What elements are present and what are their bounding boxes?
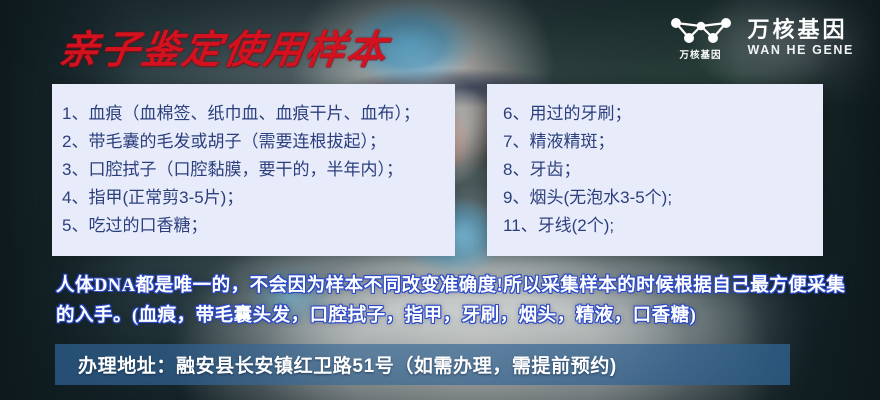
list-item: 6、用过的牙刷； [503, 100, 823, 128]
sample-list-right: 6、用过的牙刷； 7、精液精斑； 8、牙齿； 9、烟头(无泡水3-5个); 11… [503, 100, 823, 240]
sample-panel-right: 6、用过的牙刷； 7、精液精斑； 8、牙齿； 9、烟头(无泡水3-5个); 11… [487, 84, 823, 256]
logo-name-en: WAN HE GENE [748, 44, 855, 57]
address-bar: 办理地址：融安县长安镇红卫路51号（如需办理，需提前预约) [55, 344, 790, 385]
note-text: 人体DNA都是唯一的，不会因为样本不同改变准确度!所以采集样本的时候根据自己最方… [56, 271, 856, 331]
list-item: 5、吃过的口香糖； [62, 212, 455, 240]
logo-name-cn: 万核基因 [748, 19, 855, 41]
list-item: 3、口腔拭子（口腔黏膜，要干的，半年内）； [62, 156, 455, 184]
list-item: 7、精液精斑； [503, 128, 823, 156]
list-item: 8、牙齿； [503, 156, 823, 184]
list-item: 9、烟头(无泡水3-5个); [503, 184, 823, 212]
list-item: 1、血痕（血棉签、纸巾血、血痕干片、血布）； [62, 100, 455, 128]
logo-wordmark: 万核基因 WAN HE GENE [748, 19, 855, 57]
logo-mark-caption: 万核基因 [679, 51, 721, 61]
sample-list-left: 1、血痕（血棉签、纸巾血、血痕干片、血布）； 2、带毛囊的毛发或胡子（需要连根拔… [62, 100, 455, 240]
sample-panel-left: 1、血痕（血棉签、纸巾血、血痕干片、血布）； 2、带毛囊的毛发或胡子（需要连根拔… [52, 84, 455, 256]
logo-mark: 万核基因 [668, 14, 734, 61]
list-item: 11、牙线(2个); [503, 212, 823, 240]
molecule-icon [668, 14, 734, 48]
address-text: 办理地址：融安县长安镇红卫路51号（如需办理，需提前预约) [55, 351, 617, 378]
list-item: 2、带毛囊的毛发或胡子（需要连根拔起）； [62, 128, 455, 156]
list-item: 4、指甲(正常剪3-5片)； [62, 184, 455, 212]
page-title: 亲子鉴定使用样本 [56, 19, 393, 75]
poster-root: 亲子鉴定使用样本 [0, 0, 880, 400]
brand-logo: 万核基因 万核基因 WAN HE GENE [668, 14, 855, 61]
